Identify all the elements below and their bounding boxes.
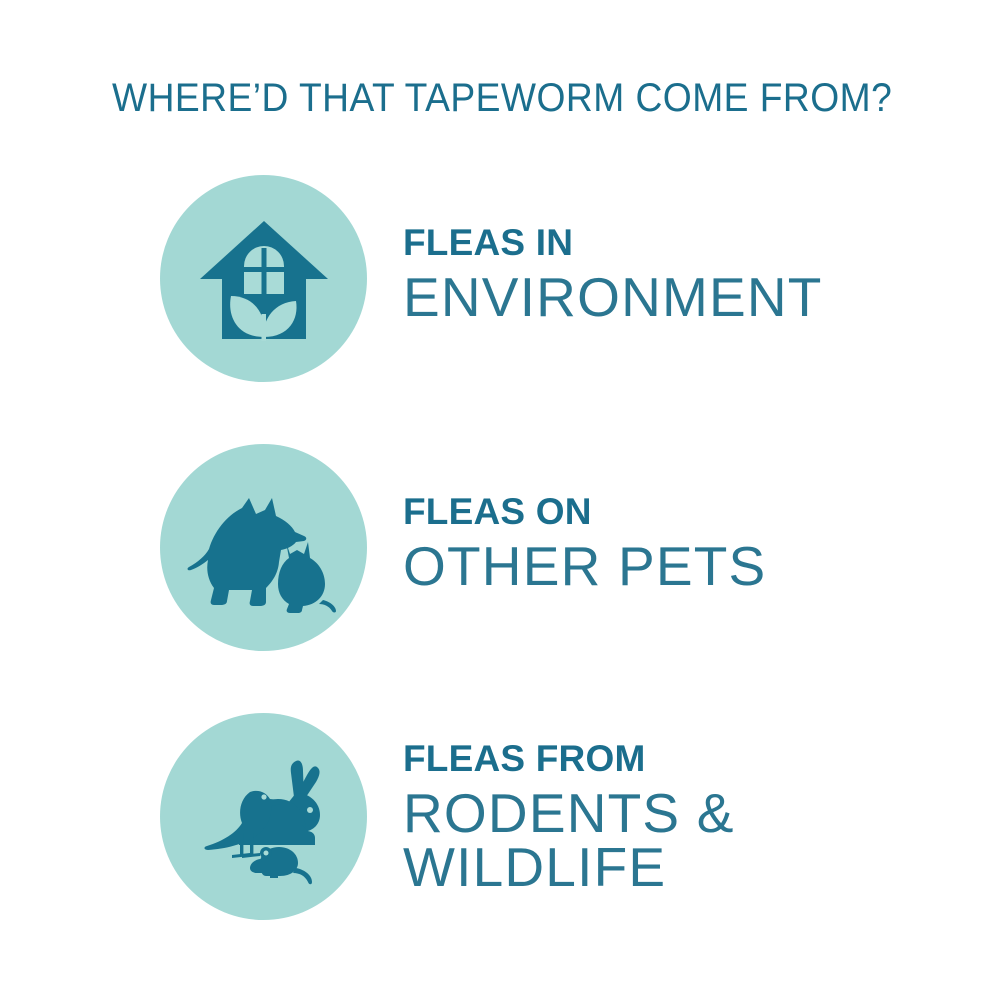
mouse-icon	[250, 847, 312, 884]
icon-badge-rodents-wildlife	[160, 713, 367, 920]
bird-rabbit-mouse-icon	[184, 737, 344, 897]
list-item-bold-label: FLEAS IN	[403, 224, 1000, 262]
list-item-light-line: ENVIRONMENT	[403, 268, 1000, 326]
list-item-light-label: OTHER PETS	[403, 537, 1000, 595]
dog-and-cat-icon	[186, 470, 341, 625]
list-item-bold-label: FLEAS FROM	[403, 740, 1000, 778]
list-item-labels: FLEAS FROM RODENTS & WILDLIFE	[403, 713, 1000, 896]
list-item-light-label: RODENTS & WILDLIFE	[403, 784, 1000, 896]
list-item-bold-label: FLEAS ON	[403, 493, 1000, 531]
icon-badge-other-pets	[160, 444, 367, 651]
list-item: FLEAS FROM RODENTS & WILDLIFE	[0, 713, 1000, 920]
house-with-leaves-icon	[189, 204, 339, 354]
list-item-light-label: ENVIRONMENT	[403, 268, 1000, 326]
page-title: WHERE’D THAT TAPEWORM COME FROM?	[112, 76, 847, 120]
infographic-root: WHERE’D THAT TAPEWORM COME FROM? FLEAS	[0, 0, 1000, 1000]
list-item-light-line: RODENTS &	[403, 784, 1000, 842]
list-item: FLEAS IN ENVIRONMENT	[0, 175, 1000, 382]
icon-badge-environment	[160, 175, 367, 382]
list-item: FLEAS ON OTHER PETS	[0, 444, 1000, 651]
list-item-light-line: WILDLIFE	[403, 838, 1000, 896]
list-item-light-line: OTHER PETS	[403, 537, 1000, 595]
list-item-labels: FLEAS IN ENVIRONMENT	[403, 175, 1000, 326]
list-item-labels: FLEAS ON OTHER PETS	[403, 444, 1000, 595]
